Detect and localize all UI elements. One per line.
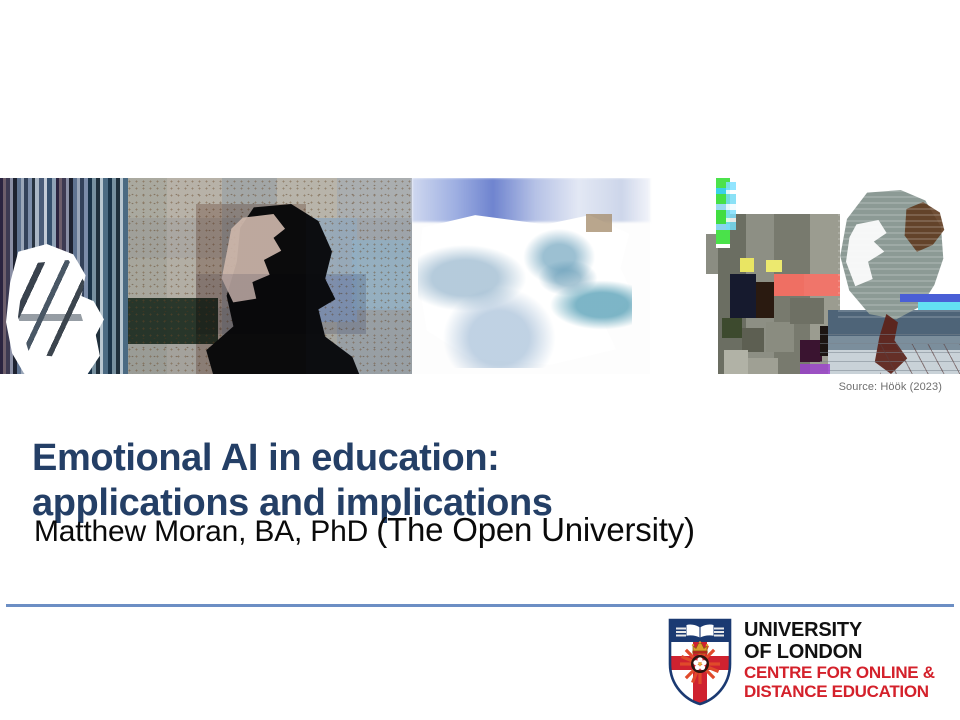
pixel-block-1 bbox=[730, 274, 756, 318]
banner-image bbox=[0, 178, 960, 374]
footer-divider bbox=[6, 604, 954, 607]
logo-line-centre-for-online: CENTRE FOR ONLINE & bbox=[744, 663, 935, 682]
pixel-block-9 bbox=[766, 322, 794, 352]
rgb-glitch-bar-secondary bbox=[726, 182, 736, 230]
pixel-block-5 bbox=[740, 258, 754, 272]
university-of-london-crest-icon bbox=[668, 618, 732, 706]
page-title-line-1: Emotional AI in education: bbox=[32, 436, 912, 480]
glitch-bar-violet bbox=[800, 364, 830, 374]
pixel-block-4 bbox=[804, 274, 840, 296]
pixel-block-2 bbox=[756, 282, 774, 318]
pixel-block-6 bbox=[766, 260, 782, 272]
figure-right-diagonal-lines bbox=[880, 344, 960, 374]
presenter-name: Matthew Moran, BA, PhD bbox=[34, 515, 368, 548]
logo-line-distance-education: DISTANCE EDUCATION bbox=[744, 682, 935, 701]
image-source-caption: Source: Höök (2023) bbox=[839, 381, 942, 393]
presenter-line: Matthew Moran, BA, PhD (The Open Univers… bbox=[34, 511, 914, 549]
panel-figure-shading bbox=[418, 218, 632, 368]
panel-sky-gradient bbox=[412, 178, 650, 222]
logo-line-of-london: OF LONDON bbox=[744, 642, 935, 664]
panel-tan-block bbox=[586, 214, 612, 232]
pixel-block-10 bbox=[724, 350, 748, 374]
glitch-bar-cyan bbox=[918, 302, 960, 310]
glitch-bar-blue bbox=[900, 294, 960, 302]
banner-glitch-artwork bbox=[0, 178, 960, 374]
logo-wordmark: UNIVERSITY OF LONDON CENTRE FOR ONLINE &… bbox=[744, 618, 935, 701]
presenter-affiliation: (The Open University) bbox=[376, 511, 695, 548]
logo-line-university: UNIVERSITY bbox=[744, 620, 935, 642]
pixel-block-3 bbox=[774, 274, 804, 296]
pixel-block-7 bbox=[722, 318, 742, 338]
pixel-block-12 bbox=[800, 340, 822, 362]
figure-left-ink-detail bbox=[18, 260, 90, 358]
figure-center-colour-tint bbox=[196, 204, 366, 374]
pixel-block-11 bbox=[790, 298, 824, 324]
pixel-block-8 bbox=[742, 328, 764, 352]
university-logo-lockup: UNIVERSITY OF LONDON CENTRE FOR ONLINE &… bbox=[668, 618, 958, 714]
pixel-block-13 bbox=[748, 358, 778, 374]
